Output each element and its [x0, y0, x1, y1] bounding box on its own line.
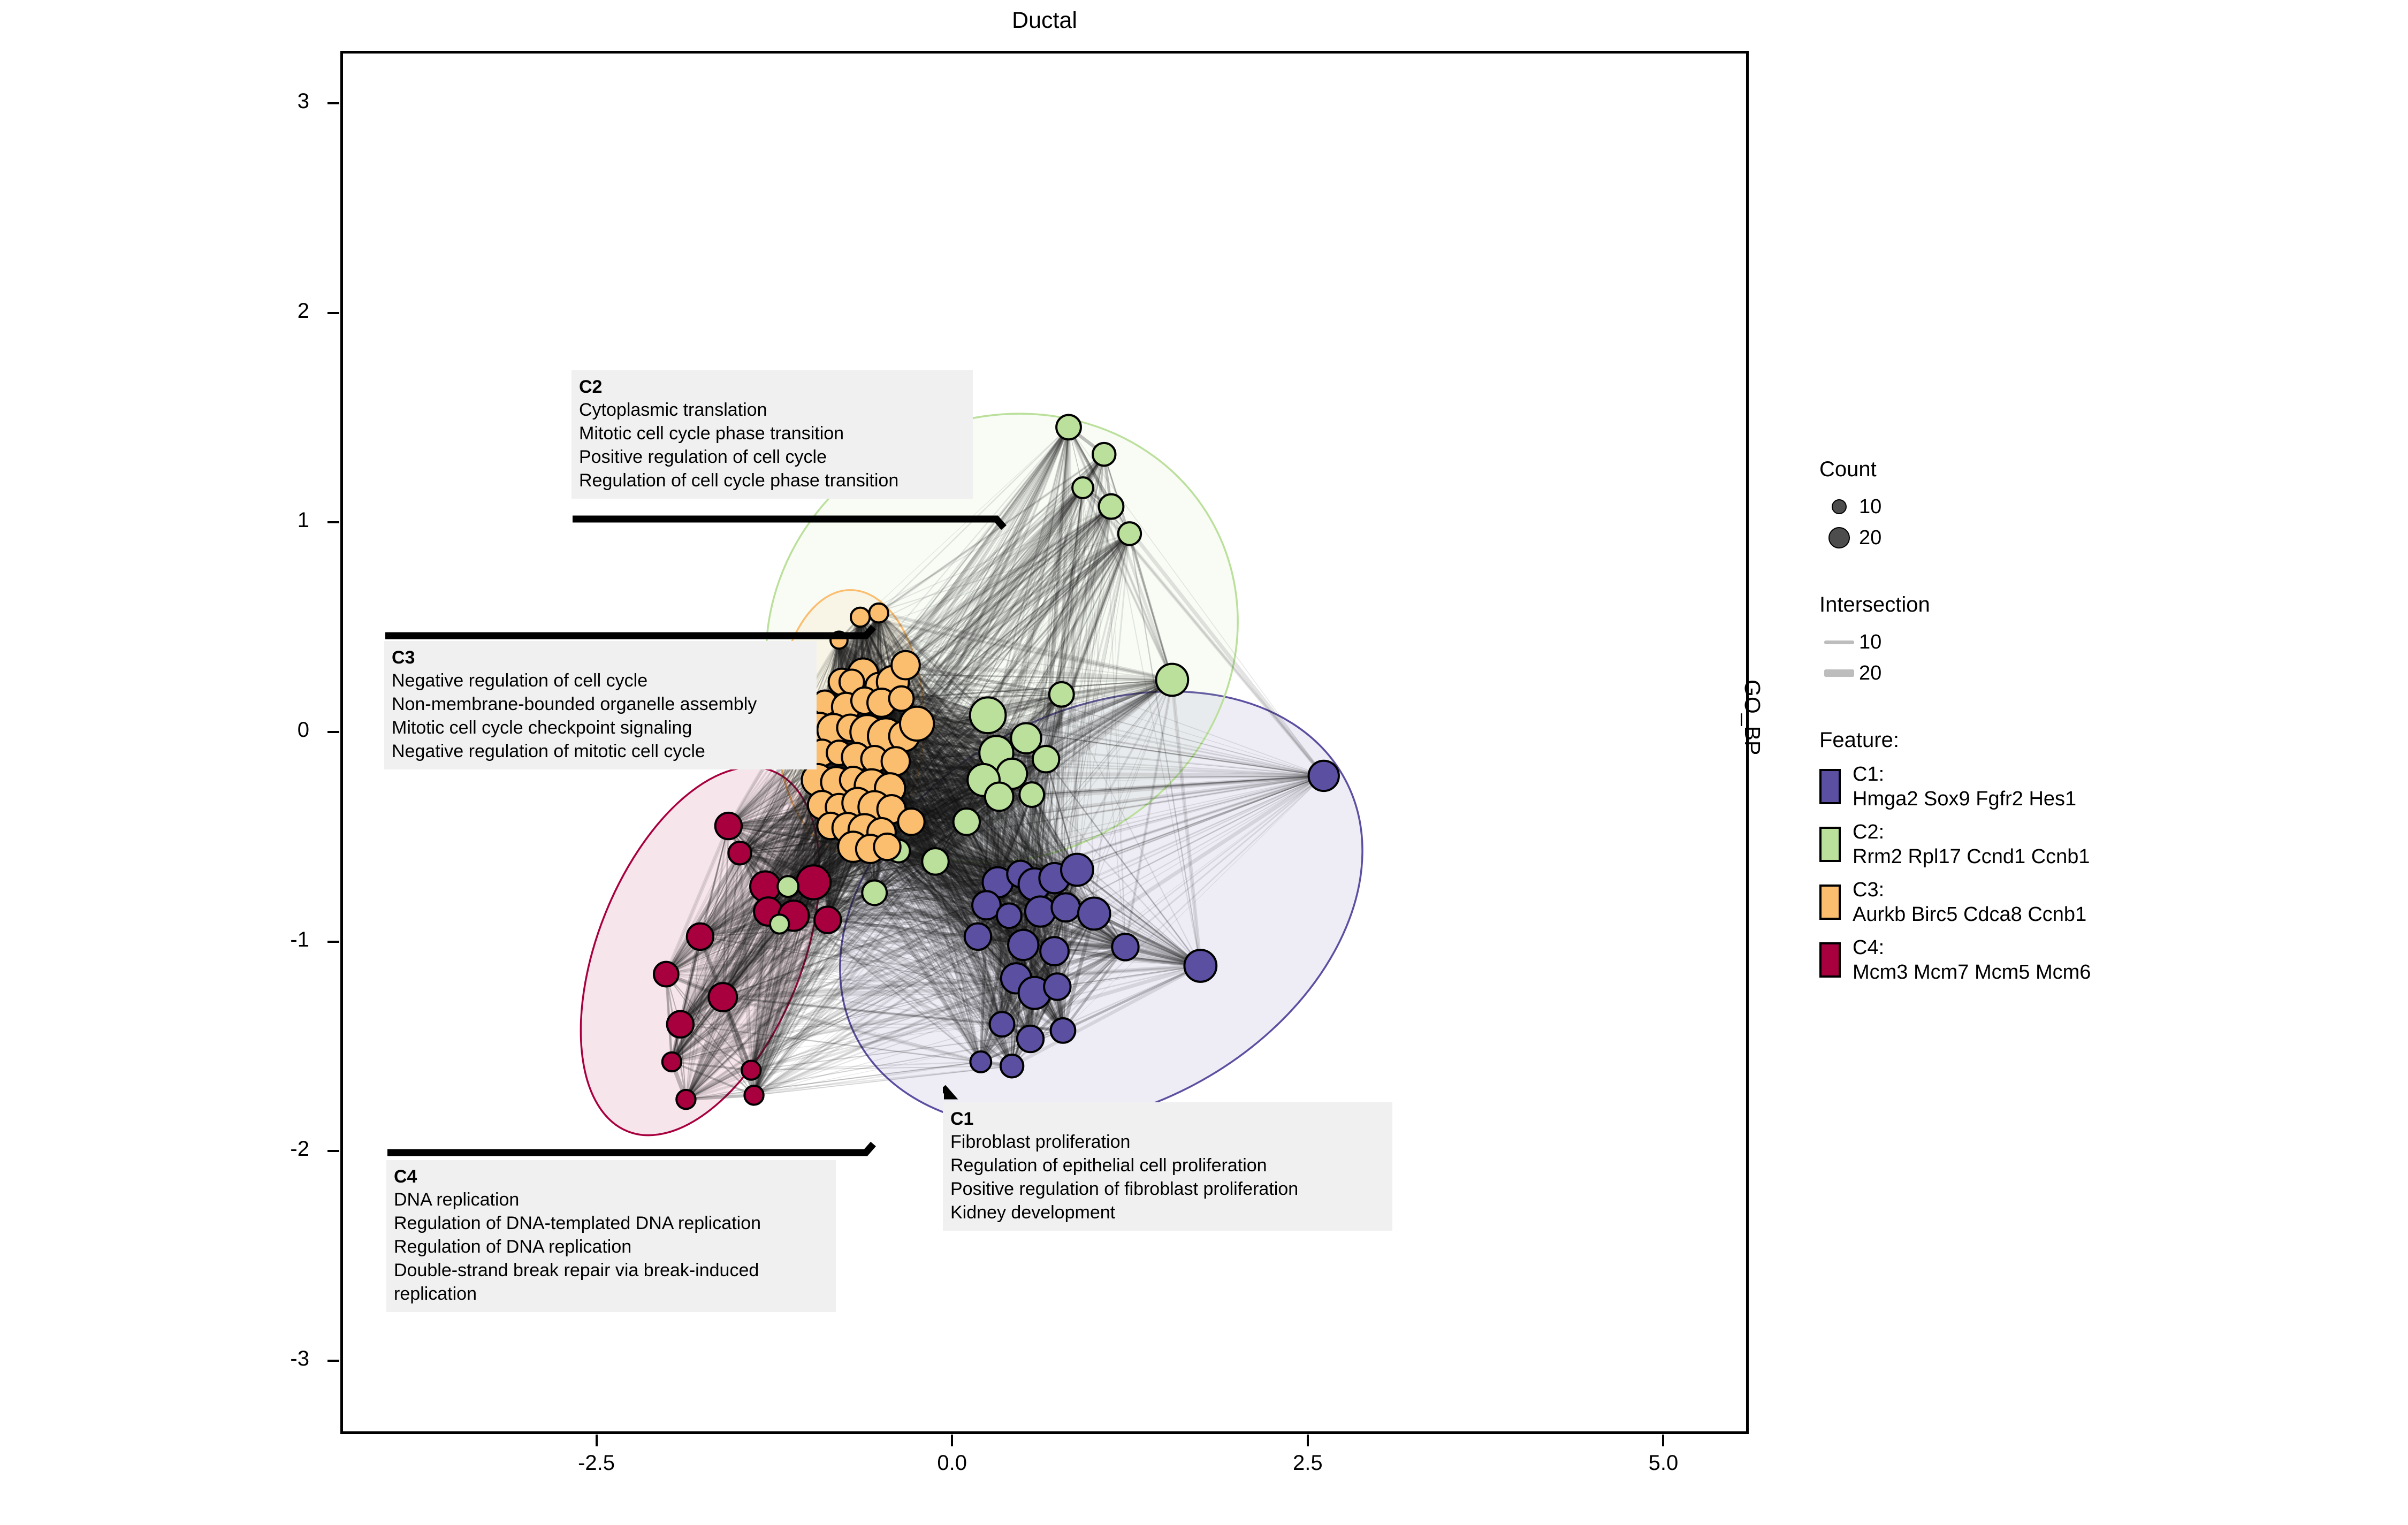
chart-root: Ductal 3210-1-2-3-2.50.02.55.0 GO_BP C2C…: [0, 0, 2408, 1525]
chart-title: Ductal: [340, 7, 1749, 34]
